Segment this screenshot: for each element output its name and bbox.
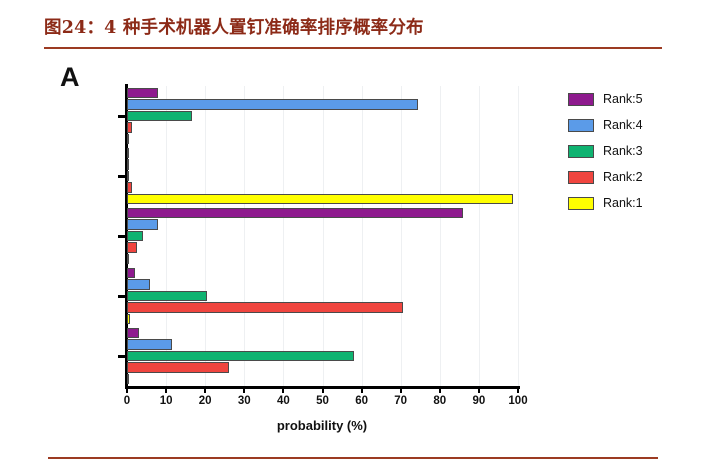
bar [127,194,513,205]
bar [127,134,129,145]
x-tick [243,387,245,393]
gridline [479,86,480,386]
bar [127,219,158,230]
panel-label-a: A [60,62,80,93]
legend-swatch [568,93,594,106]
gridline [323,86,324,386]
title-divider [44,47,662,49]
bar [127,231,143,242]
y-tick [118,175,127,178]
bar [127,374,129,385]
chart-legend: Rank:5Rank:4Rank:3Rank:2Rank:1 [568,86,698,216]
x-tick-label: 10 [160,395,173,407]
y-tick [118,235,127,238]
legend-label: Rank:3 [603,144,643,158]
x-tick [165,387,167,393]
bar [127,111,192,122]
plot-area: 0102030405060708090100 Conventional surg… [127,86,518,386]
x-tick-label: 30 [238,395,251,407]
y-tick [118,115,127,118]
gridline [244,86,245,386]
x-tick [361,387,363,393]
x-tick-label: 0 [124,395,130,407]
bar [127,122,132,133]
legend-item[interactable]: Rank:3 [568,138,698,164]
x-tick [517,387,519,393]
x-tick [126,387,128,393]
x-tick-label: 40 [277,395,290,407]
legend-label: Rank:2 [603,170,643,184]
x-tick [282,387,284,393]
chart-container: A 0102030405060708090100 Conventional su… [0,56,706,452]
x-tick-label: 60 [355,395,368,407]
x-tick [204,387,206,393]
x-tick [322,387,324,393]
gridline [401,86,402,386]
bar [127,291,207,302]
bar [127,314,130,325]
y-tick [118,355,127,358]
gridline [362,86,363,386]
x-tick-label: 80 [433,395,446,407]
footer-divider [48,457,658,459]
gridline [440,86,441,386]
bar [127,171,129,182]
bar [127,279,150,290]
legend-swatch [568,145,594,158]
legend-swatch [568,171,594,184]
x-tick-label: 50 [316,395,329,407]
bar [127,208,463,219]
x-tick [400,387,402,393]
bar [127,328,139,339]
bar [127,268,135,279]
bar [127,254,129,265]
legend-label: Rank:4 [603,118,643,132]
x-tick-label: 90 [472,395,485,407]
legend-item[interactable]: Rank:2 [568,164,698,190]
x-tick-label: 70 [394,395,407,407]
y-tick [118,295,127,298]
legend-item[interactable]: Rank:4 [568,112,698,138]
bar [127,362,229,373]
legend-swatch [568,197,594,210]
x-tick [478,387,480,393]
legend-label: Rank:5 [603,92,643,106]
gridline [518,86,519,386]
gridline [205,86,206,386]
bar [127,182,132,193]
x-axis-title: probability (%) [277,418,367,433]
legend-label: Rank:1 [603,196,643,210]
legend-swatch [568,119,594,132]
figure-header: 图24：4 种手术机器人置钉准确率排序概率分布 [0,0,706,56]
legend-item[interactable]: Rank:1 [568,190,698,216]
bar [127,88,158,99]
bar [127,242,137,253]
bar [127,339,172,350]
bar [127,302,403,313]
bar [127,148,129,159]
bar [127,159,129,170]
x-tick [439,387,441,393]
figure-title: 图24：4 种手术机器人置钉准确率排序概率分布 [44,14,424,39]
gridline [283,86,284,386]
x-tick-label: 20 [199,395,212,407]
x-tick-label: 100 [508,395,527,407]
bar [127,351,354,362]
bar [127,99,418,110]
legend-item[interactable]: Rank:5 [568,86,698,112]
